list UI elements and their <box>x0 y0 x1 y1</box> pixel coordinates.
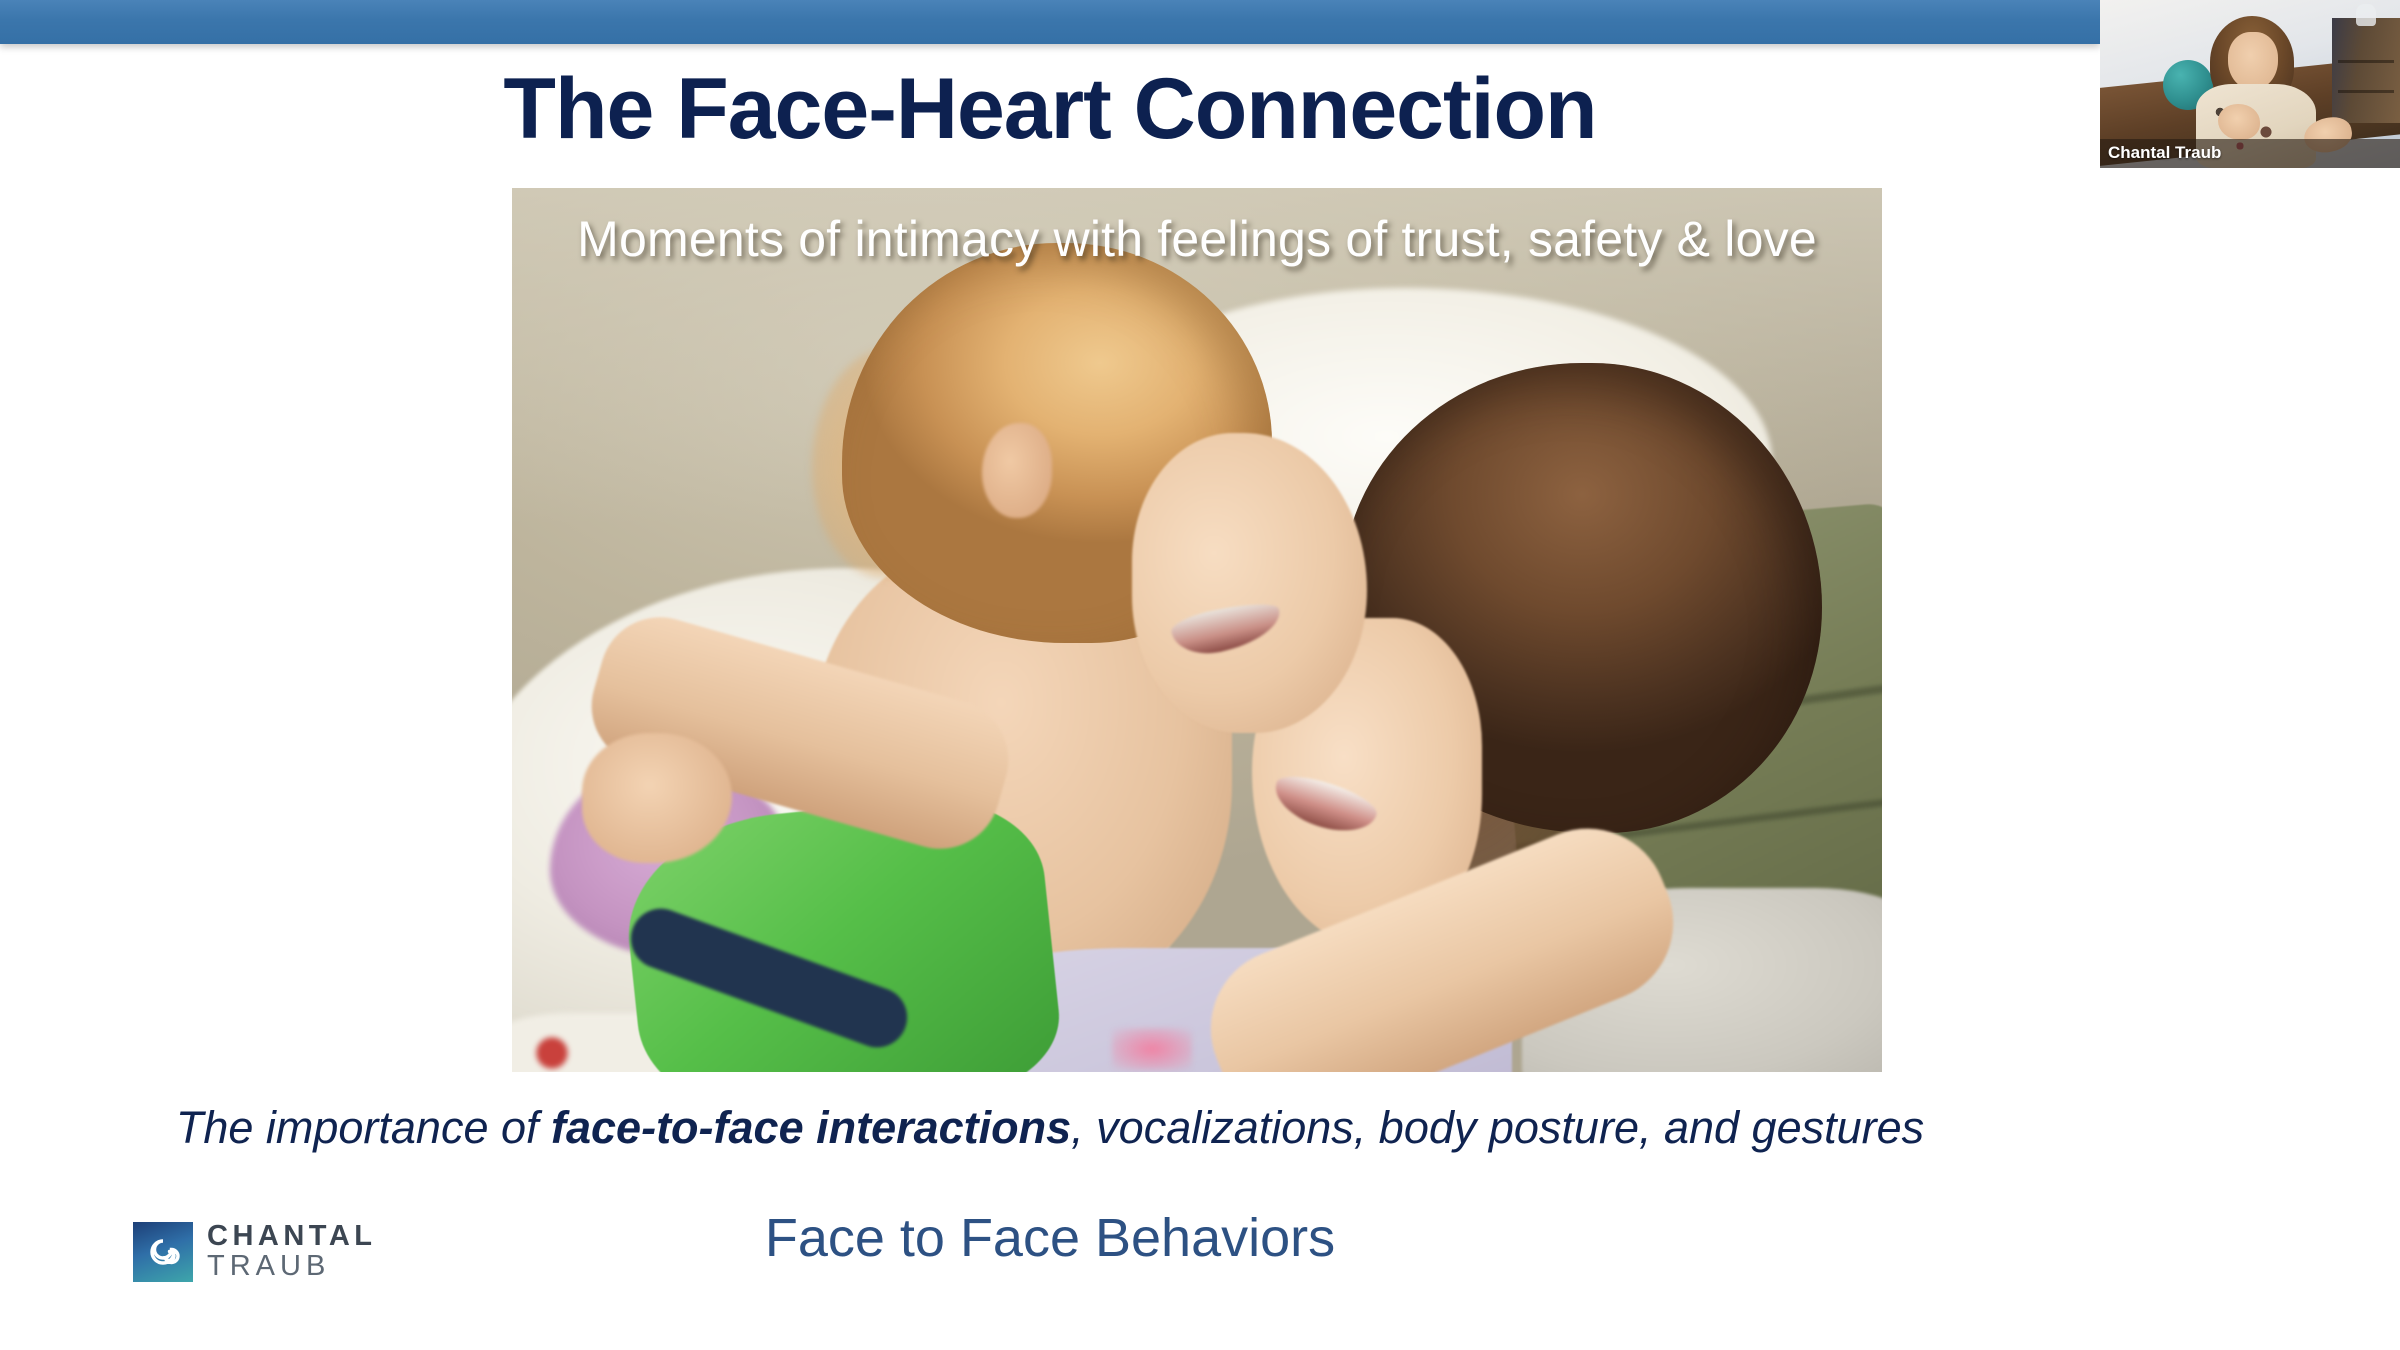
subtitle-text-after: , vocalizations, body posture, and gestu… <box>1071 1102 1924 1153</box>
brand-logo: CHANTAL TRAUB <box>133 1222 377 1282</box>
webcam-speaker-face <box>2228 32 2278 90</box>
webcam-dresser <box>2332 18 2400 123</box>
webcam-video-tile[interactable]: Chantal Traub <box>2100 0 2400 168</box>
logo-wordmark: CHANTAL TRAUB <box>207 1222 377 1281</box>
presentation-screen: The Face-Heart Connection Moments of i <box>0 0 2400 1350</box>
logo-line-1: CHANTAL <box>207 1222 377 1252</box>
photo-lavender-stain <box>1112 1028 1192 1070</box>
page-title: The Face-Heart Connection <box>0 60 2100 159</box>
spiral-icon <box>133 1222 193 1282</box>
webcam-speaker-hand <box>2218 104 2260 140</box>
slide-top-bar <box>0 0 2100 44</box>
logo-line-2: TRAUB <box>207 1252 377 1282</box>
photo-caption-overlay: Moments of intimacy with feelings of tru… <box>512 210 1882 268</box>
slide-photo: Moments of intimacy with feelings of tru… <box>512 188 1882 1072</box>
subtitle-text-before: The importance of <box>176 1102 551 1153</box>
webcam-participant-name: Chantal Traub <box>2108 143 2221 163</box>
photo-toddler-ear <box>982 423 1052 518</box>
webcam-vase <box>2356 4 2376 26</box>
slide-subtitle: The importance of face-to-face interacti… <box>0 1102 2100 1154</box>
subtitle-text-bold: face-to-face interactions <box>551 1102 1071 1153</box>
